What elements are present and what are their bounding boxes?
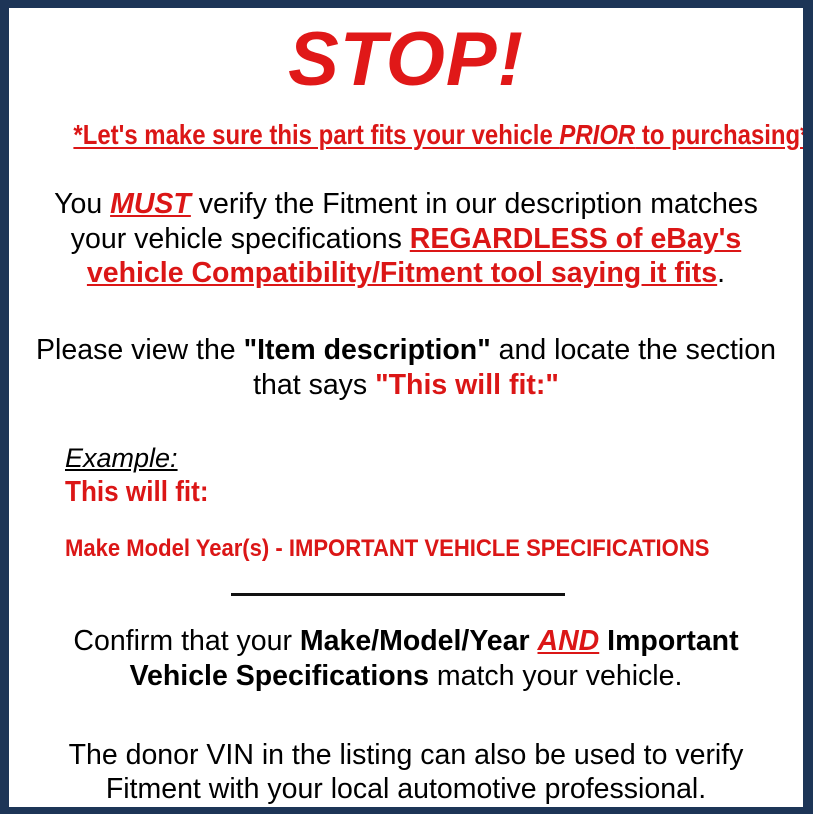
thank-you-line: Thank you for confirming Fitment! — [17, 807, 795, 814]
example-fit-heading: This will fit: — [65, 474, 722, 509]
view-text-1: Please view the — [36, 334, 244, 366]
page-title: STOP! — [17, 8, 795, 98]
subtitle-emphasis-prior: PRIOR — [559, 119, 635, 150]
example-label: Example: — [65, 443, 178, 474]
confirm-space-1 — [530, 625, 538, 657]
example-label-row: Example: — [65, 443, 795, 474]
subtitle-text-after: to purchasing* — [635, 119, 809, 150]
confirm-space-2 — [599, 625, 607, 657]
emphasis-make-model-year: Make/Model/Year — [300, 625, 530, 657]
fitment-notice-card: STOP! *Let's make sure this part fits yo… — [0, 0, 813, 814]
confirm-text-1: Confirm that your — [73, 625, 300, 657]
emphasis-must: MUST — [110, 188, 191, 220]
must-text-3: . — [717, 257, 725, 289]
emphasis-and: AND — [538, 625, 600, 657]
subtitle-text-before: *Let's make sure this part fits your veh… — [73, 119, 559, 150]
subtitle-banner: *Let's make sure this part fits your veh… — [73, 98, 738, 151]
example-spec-line: Make Model Year(s) - IMPORTANT VEHICLE S… — [65, 509, 722, 563]
paragraph-view-description: Please view the "Item description" and l… — [17, 291, 795, 403]
emphasis-item-description: "Item description" — [244, 334, 491, 366]
paragraph-must-verify: You MUST verify the Fitment in our descr… — [17, 151, 795, 291]
paragraph-confirm: Confirm that your Make/Model/Year AND Im… — [17, 596, 795, 694]
must-text-1: You — [54, 188, 110, 220]
confirm-text-2: match your vehicle. — [429, 660, 682, 692]
example-block: Example: This will fit: Make Model Year(… — [17, 403, 795, 564]
notice-content: STOP! *Let's make sure this part fits yo… — [9, 8, 803, 807]
divider-container — [17, 563, 795, 596]
emphasis-this-will-fit: "This will fit:" — [375, 369, 559, 401]
paragraph-donor-vin: The donor VIN in the listing can also be… — [17, 694, 795, 808]
